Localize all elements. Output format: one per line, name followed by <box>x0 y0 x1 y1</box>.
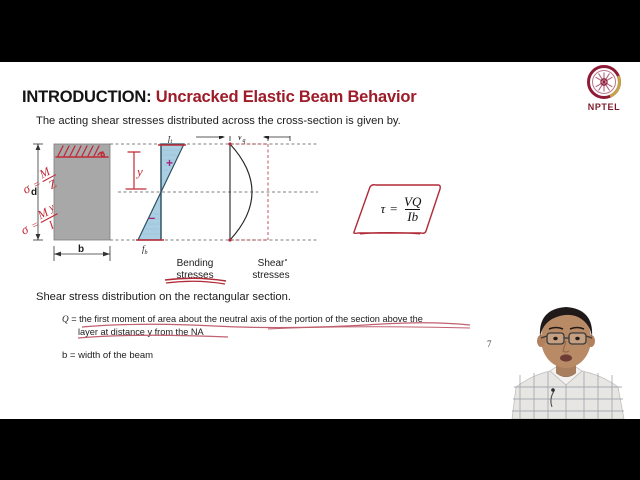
q-symbol: Q <box>62 314 69 324</box>
svg-text:y: y <box>135 164 143 179</box>
ink-underline-bending <box>162 276 232 286</box>
b-definition: b = width of the beam <box>62 350 153 361</box>
nptel-logo: NPTEL <box>578 64 630 120</box>
svg-text:I: I <box>45 217 57 232</box>
shear-distribution-line: Shear stress distribution on the rectang… <box>36 291 291 303</box>
equals-symbol: = <box>389 201 398 217</box>
ink-underline-q-line2 <box>76 330 236 342</box>
fraction-denominator: Ib <box>405 209 420 224</box>
fraction-numerator: VQ <box>402 195 423 209</box>
shear-formula: τ = VQ Ib <box>362 190 442 228</box>
caption-shear-stresses: Shear stresses <box>244 258 298 282</box>
nptel-emblem-icon <box>586 64 622 100</box>
svg-text:=: = <box>31 178 43 192</box>
svg-text:fb: fb <box>142 244 148 256</box>
svg-text:Vq: Vq <box>237 136 246 144</box>
handwritten-stress-formulas: σ = M Z σ = M y I <box>20 162 96 250</box>
svg-text:+: + <box>166 156 173 170</box>
title-main: INTRODUCTION: <box>22 88 151 106</box>
shear-formula-box: τ = VQ Ib <box>340 182 458 236</box>
nptel-wordmark: NPTEL <box>578 102 630 112</box>
vq-over-ib-fraction: VQ Ib <box>402 195 423 223</box>
letterbox-bottom <box>0 419 640 480</box>
video-frame: INTRODUCTION: Uncracked Elastic Beam Beh… <box>0 0 640 480</box>
title-highlight: Uncracked Elastic Beam Behavior <box>156 88 417 106</box>
slide-canvas: INTRODUCTION: Uncracked Elastic Beam Beh… <box>0 62 640 419</box>
page-title: INTRODUCTION: Uncracked Elastic Beam Beh… <box>22 88 416 107</box>
svg-text:=: = <box>29 218 41 232</box>
subtitle-text: The acting shear stresses distributed ac… <box>36 115 401 127</box>
tau-symbol: τ <box>381 201 386 217</box>
letterbox-top <box>0 0 640 62</box>
svg-text:Z: Z <box>46 176 59 192</box>
page-number: 7 <box>487 339 492 349</box>
presenter-video <box>492 295 640 419</box>
svg-text:–: – <box>148 210 155 225</box>
